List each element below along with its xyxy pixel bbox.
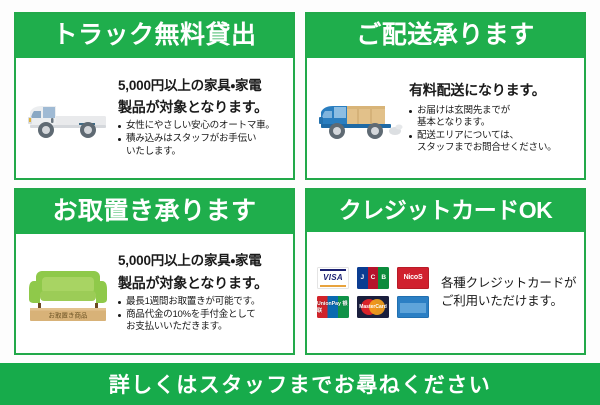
unionpay-label: UnionPay 银联 (317, 300, 349, 314)
panel-delivery: ご配送承ります (305, 12, 586, 180)
bullet-list-layaway: 最長1週間お取置きが可能です。 商品代金の10%を手付金として お支払いいただき… (118, 296, 287, 333)
green-sofa-icon: お取置き商品 (20, 263, 116, 323)
credit-card-logo-grid: VISA J C B NicoS UnionPay 银联 (317, 267, 429, 318)
footer-text: 詳しくはスタッフまでお尋ねください (109, 369, 492, 399)
panel-body-delivery: 有料配送になります。 お届けは玄関先までが 基本となります。 配送エリアについて… (307, 58, 584, 178)
panel-grid: トラック無料貸出 (0, 0, 600, 355)
visa-card-icon: VISA (317, 267, 349, 289)
jcb-letter-c: C (368, 267, 379, 289)
panel-title-layaway: お取置き承ります (16, 190, 293, 234)
copy-layaway: 5,000円以上の家具・家電 製品が対象となります。 最長1週間お取置きが可能で… (116, 252, 287, 334)
copy-delivery: 有料配送になります。 お届けは玄関先までが 基本となります。 配送エリアについて… (407, 81, 578, 156)
list-item: 配送エリアについては、 スタッフまでお問合せください。 (409, 130, 578, 154)
mastercard-label: MasterCard (359, 304, 387, 310)
panel-title-truck-rental: トラック無料貸出 (16, 14, 293, 58)
lead-line-1: 5,000円以上の家具・家電 (118, 77, 287, 94)
amex-card-icon: AMERICAN EXPRESS (397, 296, 429, 318)
panel-body-truck-rental: 5,000円以上の家具・家電 製品が対象となります。 女性にやさしい安心のオート… (16, 58, 293, 178)
list-item: お届けは玄関先までが 基本となります。 (409, 105, 578, 129)
jcb-letter-j: J (357, 267, 368, 289)
pedestal-label: お取置き商品 (49, 311, 88, 320)
copy-truck-rental: 5,000円以上の家具・家電 製品が対象となります。 女性にやさしい安心のオート… (116, 77, 287, 159)
panel-credit-card: クレジットカードOK VISA J C B NicoS (305, 188, 586, 356)
list-item: 積み込みはスタッフがお手伝い いたします。 (118, 133, 287, 157)
service-info-board: トラック無料貸出 (0, 0, 600, 405)
list-item: 最長1週間お取置きが可能です。 (118, 296, 287, 308)
lead-line-2: 製品が対象となります。 (118, 274, 287, 292)
panel-body-layaway: お取置き商品 5,000円以上の家具・家電 製品が対象となります。 最長1週間お… (16, 234, 293, 354)
bullet-list-truck-rental: 女性にやさしい安心のオートマ車。 積み込みはスタッフがお手伝い いたします。 (118, 120, 287, 157)
lead-line-1: 有料配送になります。 (409, 81, 578, 99)
list-item: 商品代金の10%を手付金として お支払いいただきます。 (118, 309, 287, 333)
jcb-card-icon: J C B (357, 267, 389, 289)
panel-body-credit-card: VISA J C B NicoS UnionPay 银联 (307, 232, 584, 354)
panel-truck-rental: トラック無料貸出 (14, 12, 295, 180)
white-truck-icon (20, 92, 116, 144)
panel-title-delivery: ご配送承ります (307, 14, 584, 58)
lead-line-2: 製品が対象となります。 (118, 98, 287, 116)
mastercard-card-icon: MasterCard (357, 296, 389, 318)
lead-line-1: 5,000円以上の家具・家電 (118, 252, 287, 269)
unionpay-card-icon: UnionPay 银联 (317, 296, 349, 318)
bullet-list-delivery: お届けは玄関先までが 基本となります。 配送エリアについては、 スタッフまでお問… (409, 105, 578, 154)
nicos-card-icon: NicoS (397, 267, 429, 289)
footer-banner: 詳しくはスタッフまでお尋ねください (0, 363, 600, 405)
panel-title-credit-card: クレジットカードOK (307, 190, 584, 232)
list-item: 女性にやさしい安心のオートマ車。 (118, 120, 287, 132)
blue-truck-icon (311, 92, 407, 144)
visa-label: VISA (323, 273, 343, 282)
credit-card-copy: 各種クレジットカードが ご利用いただけます。 (429, 274, 578, 310)
nicos-label: NicoS (404, 274, 423, 281)
jcb-letter-b: B (378, 267, 389, 289)
panel-layaway: お取置き承ります お取置き商品 (14, 188, 295, 356)
